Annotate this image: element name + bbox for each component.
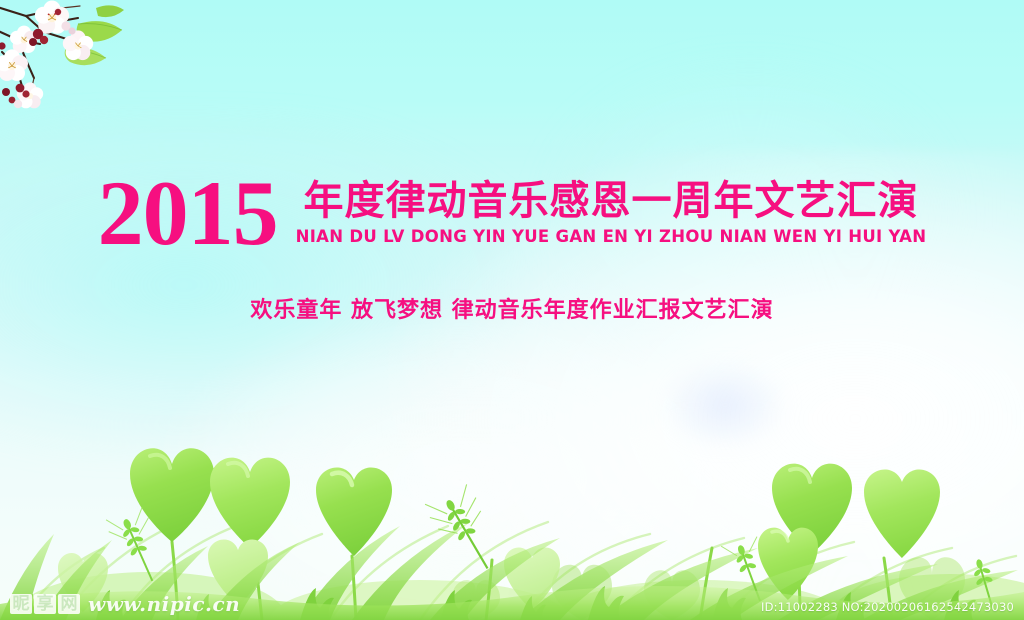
site-watermark: 昵 享 网 www.nipic.cn (10, 592, 240, 616)
logo-char-2: 享 (34, 594, 56, 614)
image-id-code: ID:11002283 NO:20200206162542473030 (761, 600, 1014, 614)
heart-leaf-large-right-2 (864, 470, 940, 558)
logo-char-3: 网 (58, 594, 80, 614)
headline-block: 2015 年度律动音乐感恩一周年文艺汇演 NIAN DU LV DONG YIN… (0, 172, 1024, 258)
poster-canvas: 2015 年度律动音乐感恩一周年文艺汇演 NIAN DU LV DONG YIN… (0, 0, 1024, 620)
watermark-url: www.nipic.cn (88, 592, 240, 616)
nipic-logo: 昵 享 网 (10, 594, 80, 614)
main-title-chinese: 年度律动音乐感恩一周年文艺汇演 (303, 180, 918, 223)
logo-char-1: 昵 (10, 594, 32, 614)
year-number: 2015 (98, 168, 278, 258)
main-title-pinyin: NIAN DU LV DONG YIN YUE GAN EN YI ZHOU N… (296, 227, 927, 247)
slogan-text: 欢乐童年 放飞梦想 律动音乐年度作业汇报文艺汇演 (0, 292, 1024, 324)
cherry-blossom-icon (0, 0, 150, 120)
heart-leaf-large-2 (210, 458, 290, 548)
